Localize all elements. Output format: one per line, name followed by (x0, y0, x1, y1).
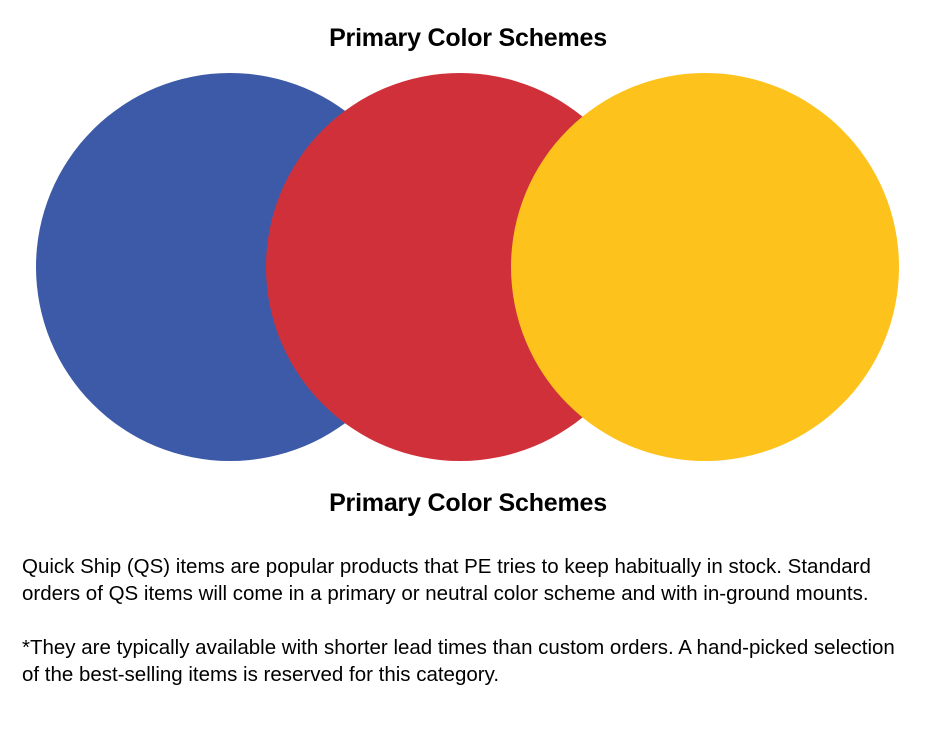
paragraph-lead-times-note: *They are typically available with short… (22, 634, 912, 688)
paragraph-quick-ship-description: Quick Ship (QS) items are popular produc… (22, 553, 912, 607)
slide-page: Primary Color Schemes Primary Color Sche… (0, 0, 936, 736)
venn-circle-yellow (511, 73, 899, 461)
primary-color-venn-diagram (0, 0, 936, 480)
page-title-bottom: Primary Color Schemes (0, 489, 936, 518)
body-copy: Quick Ship (QS) items are popular produc… (22, 553, 912, 688)
